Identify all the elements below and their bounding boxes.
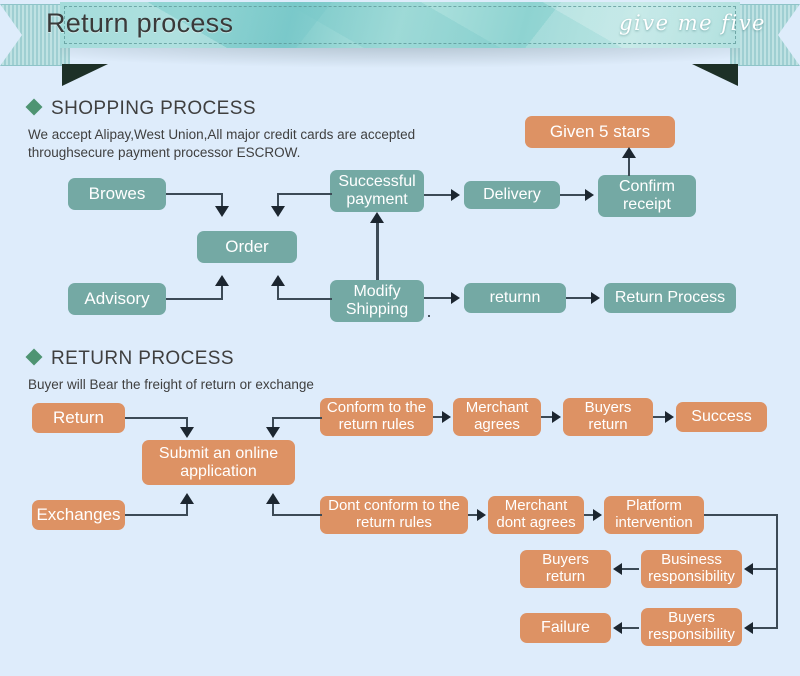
arrowhead-payment-delivery: [451, 189, 460, 201]
connector-bus-business: [753, 568, 777, 570]
arrowhead-merchantdont-platform: [593, 509, 602, 521]
node-return[interactable]: Return: [32, 403, 125, 433]
node-conform-rules[interactable]: Conform to the return rules: [320, 398, 433, 436]
connector-exchanges-submit: [125, 514, 188, 516]
arrowhead-advisory-order: [215, 275, 229, 286]
arrowhead-modify-payment: [370, 212, 384, 223]
connector-modify-returnn: [424, 297, 452, 299]
diamond-bullet-icon: [26, 99, 43, 116]
return-process-heading: RETURN PROCESS: [28, 348, 314, 370]
connector-confirm-stars: [628, 157, 630, 176]
return-process-section-header: RETURN PROCESS Buyer will Bear the freig…: [28, 348, 314, 394]
connector-bus-buyersresp: [753, 627, 777, 629]
node-exchanges[interactable]: Exchanges: [32, 500, 125, 530]
node-submit-application[interactable]: Submit an online application: [142, 440, 295, 485]
connector-buyersresp-failure: [622, 627, 639, 629]
connector-business-buyersreturn: [622, 568, 639, 570]
node-failure[interactable]: Failure: [520, 613, 611, 643]
node-modify-shipping[interactable]: Modify Shipping: [330, 280, 424, 322]
return-process-heading-label: RETURN PROCESS: [51, 348, 234, 369]
connector-returnn-process: [566, 297, 592, 299]
connector-conform-submit: [272, 417, 322, 419]
node-delivery[interactable]: Delivery: [464, 181, 560, 209]
connector-modify-order: [277, 298, 332, 300]
arrowhead-payment-order: [271, 206, 285, 217]
decorative-dot: [428, 315, 430, 317]
connector-exchanges-submit-rise: [186, 503, 188, 515]
connector-platform-bus: [704, 514, 778, 516]
connector-dontconform-submit: [272, 514, 322, 516]
shopping-process-subtext: We accept Alipay,West Union,All major cr…: [28, 126, 415, 162]
arrowhead-conform-submit: [266, 427, 280, 438]
node-buyers-return-top[interactable]: Buyers return: [563, 398, 653, 436]
node-merchant-agrees[interactable]: Merchant agrees: [453, 398, 541, 436]
node-confirm-receipt[interactable]: Confirm receipt: [598, 175, 696, 217]
node-advisory[interactable]: Advisory: [68, 283, 166, 315]
connector-return-submit: [125, 417, 188, 419]
connector-modify-payment: [376, 222, 379, 280]
arrowhead-bus-buyersresp: [744, 622, 753, 634]
node-dont-conform-rules[interactable]: Dont conform to the return rules: [320, 496, 468, 534]
node-given-5-stars[interactable]: Given 5 stars: [525, 116, 675, 148]
arrowhead-exchanges-submit: [180, 493, 194, 504]
arrowhead-modify-returnn: [451, 292, 460, 304]
arrowhead-bus-business: [744, 563, 753, 575]
node-return-process[interactable]: Return Process: [604, 283, 736, 313]
connector-advisory-order: [166, 298, 223, 300]
connector-delivery-confirm: [560, 194, 586, 196]
node-buyers-return-bottom[interactable]: Buyers return: [520, 550, 611, 588]
shopping-process-heading: SHOPPING PROCESS: [28, 98, 415, 120]
connector-advisory-order-rise: [221, 285, 223, 299]
arrowhead-browes-order: [215, 206, 229, 217]
page-title: Return process: [46, 8, 233, 39]
arrowhead-conform-merchant: [442, 411, 451, 423]
arrowhead-modify-order: [271, 275, 285, 286]
arrowhead-delivery-confirm: [585, 189, 594, 201]
arrowhead-buyersresp-failure: [613, 622, 622, 634]
connector-payment-order: [277, 193, 332, 195]
connector-modify-order-rise: [277, 285, 279, 299]
arrowhead-dontconform-merchantdont: [477, 509, 486, 521]
connector-platform-bus-vertical: [776, 514, 778, 629]
arrowhead-dontconform-submit: [266, 493, 280, 504]
node-merchant-dont-agrees[interactable]: Merchant dont agrees: [488, 496, 584, 534]
banner-shadow: [60, 48, 740, 80]
arrowhead-return-submit: [180, 427, 194, 438]
connector-dontconform-submit-rise: [272, 503, 274, 515]
shopping-process-heading-label: SHOPPING PROCESS: [51, 98, 256, 119]
node-successful-payment[interactable]: Successful payment: [330, 170, 424, 212]
arrowhead-business-buyersreturn: [613, 563, 622, 575]
page-header: Return process give me five: [0, 0, 800, 90]
node-success[interactable]: Success: [676, 402, 767, 432]
diamond-bullet-icon: [26, 349, 43, 366]
arrowhead-buyersreturn-success: [665, 411, 674, 423]
node-order[interactable]: Order: [197, 231, 297, 263]
shopping-process-section-header: SHOPPING PROCESS We accept Alipay,West U…: [28, 98, 415, 162]
brand-script-text: give me five: [619, 11, 766, 35]
return-process-subtext: Buyer will Bear the freight of return or…: [28, 376, 314, 394]
node-buyers-responsibility[interactable]: Buyers responsibility: [641, 608, 742, 646]
connector-payment-delivery: [424, 194, 452, 196]
node-platform-intervention[interactable]: Platform intervention: [604, 496, 704, 534]
node-business-responsibility[interactable]: Business responsibility: [641, 550, 742, 588]
connector-browes-order: [166, 193, 223, 195]
arrowhead-merchant-buyersreturn: [552, 411, 561, 423]
node-browes[interactable]: Browes: [68, 178, 166, 210]
arrowhead-confirm-stars: [622, 147, 636, 158]
arrowhead-returnn-process: [591, 292, 600, 304]
node-returnn[interactable]: returnn: [464, 283, 566, 313]
